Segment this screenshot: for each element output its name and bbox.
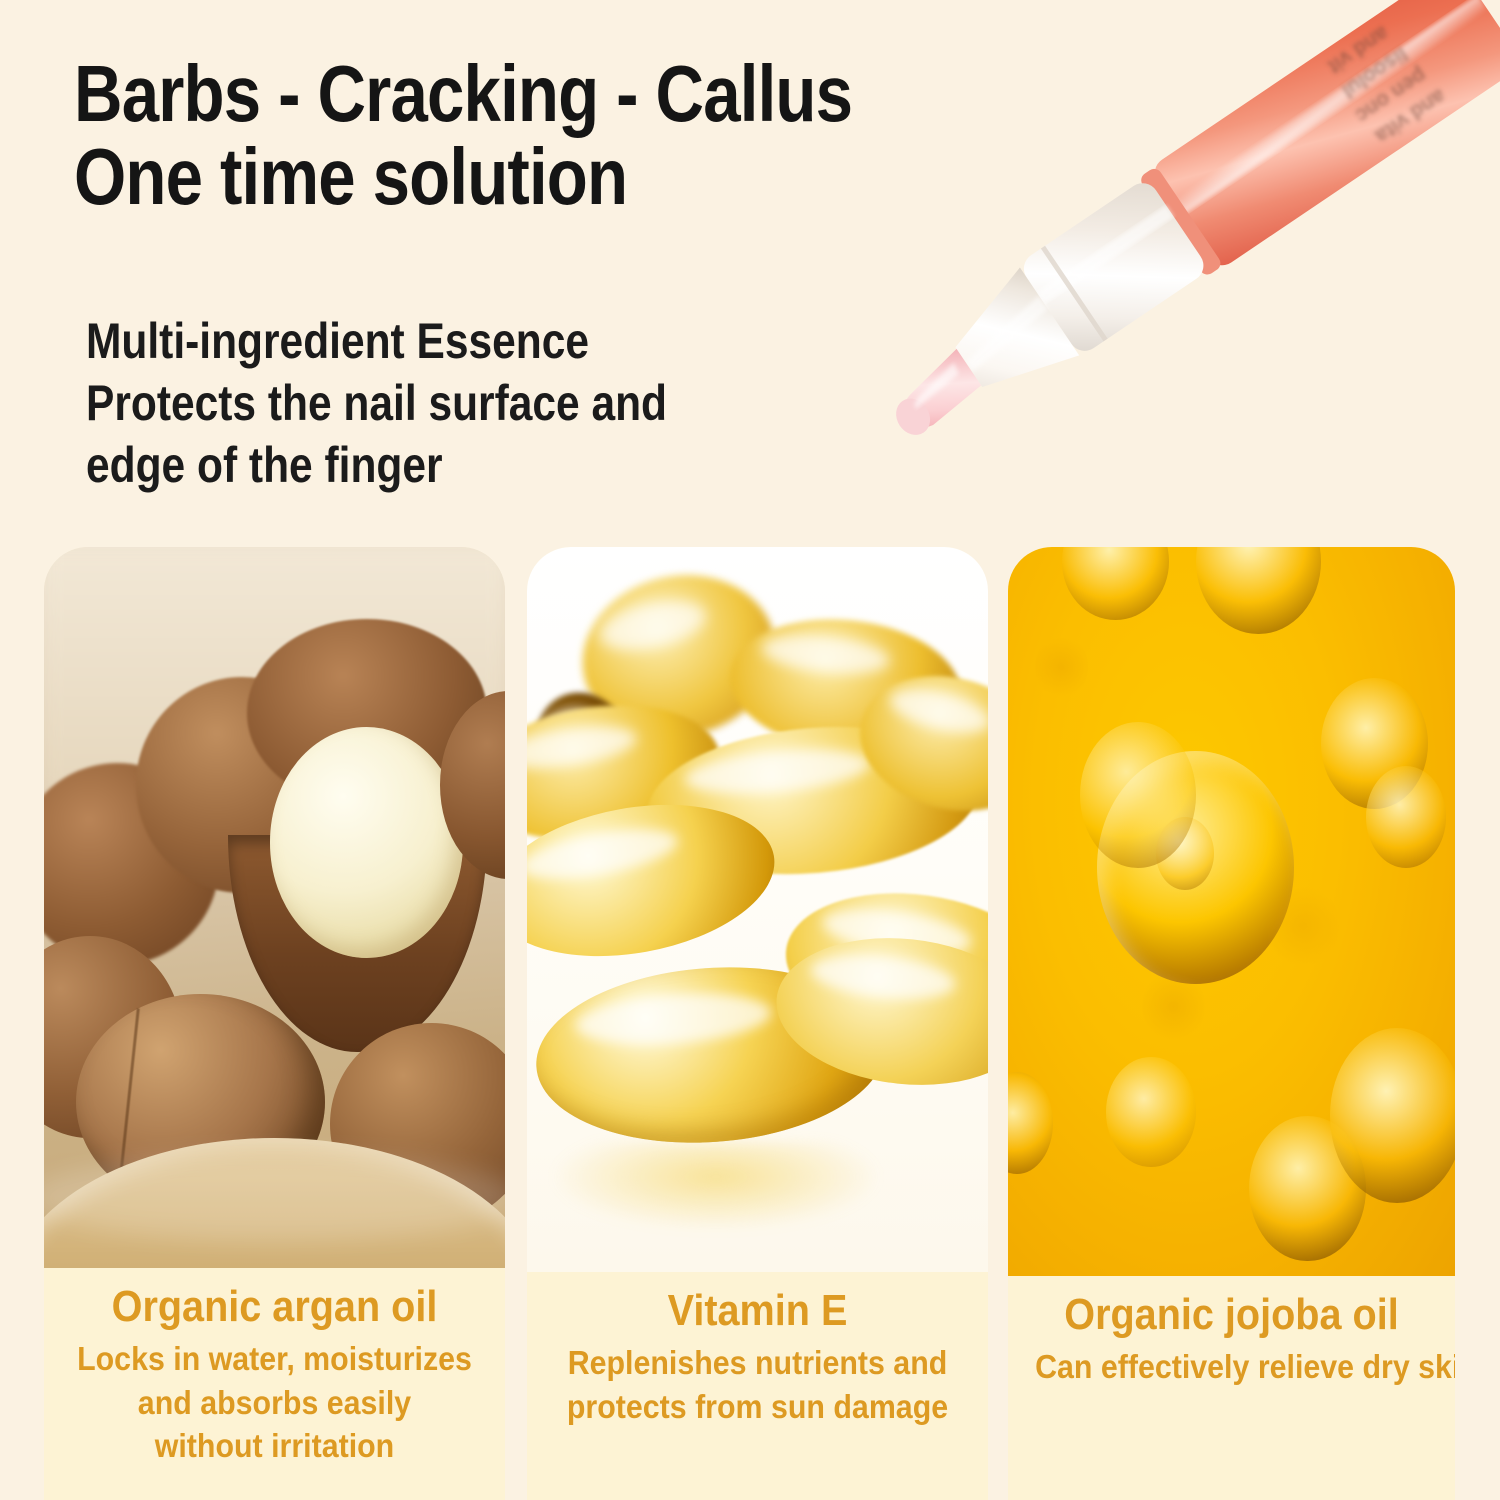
panel-body: Can effectively relieve dry skin [1035,1345,1428,1389]
panel-body-line-2: protects from sun damage [555,1385,961,1429]
jojoba-oil-photo [1008,547,1455,1276]
subhead-line-1: Multi-ingredient Essence [86,310,885,372]
panel-title: Organic jojoba oil [1039,1290,1423,1339]
ingredient-panels: Organic argan oil Locks in water, moistu… [0,547,1500,1500]
headline-line-2: One time solution [74,135,981,218]
panel-body-line-2: and absorbs easily [72,1381,478,1425]
panel-caption-vitamin-e: Vitamin E Replenishes nutrients and prot… [527,1272,988,1428]
panel-body-line-3: without irritation [72,1424,478,1468]
ingredient-panel-vitamin-e[interactable]: Vitamin E Replenishes nutrients and prot… [527,547,988,1500]
panel-body-line-1: Replenishes nutrients and [555,1341,961,1385]
ingredient-panel-organic-argan-oil[interactable]: Organic argan oil Locks in water, moistu… [44,547,505,1500]
panel-caption-organic-jojoba-oil: Organic jojoba oil Can effectively relie… [1008,1276,1455,1389]
subhead-line-3: edge of the finger [86,434,885,496]
panel-body-line-1: Can effectively relieve dry skin [1035,1345,1428,1389]
subhead-line-2: Protects the nail surface and [86,372,885,434]
panel-body-line-1: Locks in water, moisturizes [72,1337,478,1381]
macadamia-nuts-photo [44,547,505,1268]
ingredient-panel-organic-jojoba-oil[interactable]: Organic jojoba oil Can effectively relie… [1008,547,1455,1500]
pen-illustration: and vita pen onc lisoolul and vit [860,0,1500,500]
page-headline: Barbs - Cracking - Callus One time solut… [74,52,981,218]
product-pen-image: and vita pen onc lisoolul and vit [860,0,1500,500]
panel-title: Organic argan oil [76,1282,473,1331]
panel-body: Locks in water, moisturizes and absorbs … [72,1337,478,1468]
panel-title: Vitamin E [559,1286,956,1335]
panel-body: Replenishes nutrients and protects from … [555,1341,961,1428]
page-subheading: Multi-ingredient Essence Protects the na… [86,310,885,496]
headline-line-1: Barbs - Cracking - Callus [74,49,852,138]
vitamin-e-capsules-photo [527,547,988,1272]
pen-barrel [1149,0,1500,271]
panel-caption-organic-argan-oil: Organic argan oil Locks in water, moistu… [44,1268,505,1468]
